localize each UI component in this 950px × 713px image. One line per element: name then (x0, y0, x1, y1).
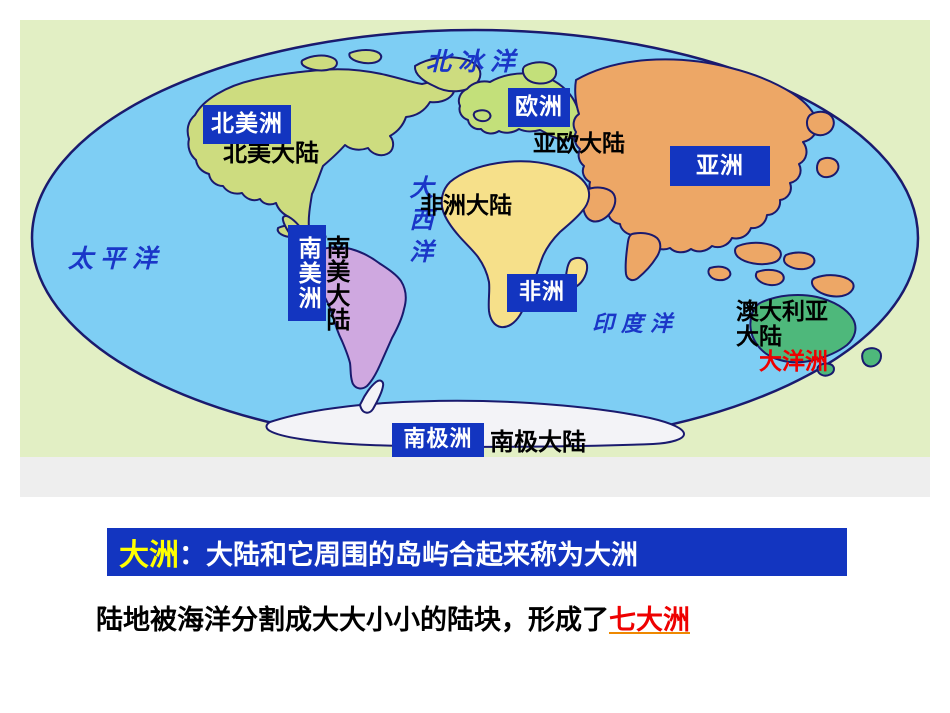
africa-mass-label: 非洲大陆 (420, 194, 512, 219)
oceania-label: 大洋洲 (759, 350, 828, 375)
kamchatka-landmass (807, 112, 834, 135)
continent-tag-africa[interactable]: 非洲 (507, 274, 577, 312)
new-zealand-landmass (862, 348, 881, 366)
caption-line2-prefix: 陆地被海洋分割成大大小小的陆块，形成了 (96, 598, 609, 637)
indian-ocean-label: 印度洋 (592, 306, 679, 338)
antarctica-mass-label: 南极大陆 (490, 429, 586, 455)
japan-isles (817, 158, 838, 177)
australia-mass-label-line1: 澳大利亚 (736, 300, 828, 325)
caption-headline-bar: 大洲 ：大陆和它周围的岛屿合起来称为大洲 (107, 528, 847, 576)
caption-keyword: 大洲 (119, 530, 179, 574)
world-map-panel: 北冰洋 太平洋 大西洋 印度洋 北美大陆 亚欧大陆 非洲大陆 南美大陆 澳大利亚… (20, 20, 930, 457)
continent-tag-south-america[interactable]: 南美洲 (288, 225, 326, 321)
australia-mass-label-line2: 大陆 (736, 325, 782, 350)
caption-line2-highlight: 七大洲 (609, 598, 690, 637)
british-isles-landmass (474, 110, 491, 121)
continent-tag-europe[interactable]: 欧洲 (508, 88, 570, 127)
south-america-mass-label: 南美大陆 (323, 235, 349, 380)
se-asia-isle-4 (708, 267, 730, 281)
continent-tag-north-america[interactable]: 北美洲 (203, 105, 291, 144)
scandinavia-landmass (523, 62, 556, 83)
arctic-ocean-label: 北冰洋 (426, 42, 522, 78)
map-bottom-strip (20, 457, 930, 497)
continent-tag-antarctica[interactable]: 南极洲 (392, 423, 484, 457)
pacific-ocean-label: 太平洋 (68, 239, 164, 275)
arctic-isles-mid (349, 50, 381, 63)
caption-headline-text: ：大陆和它周围的岛屿合起来称为大洲 (179, 533, 638, 572)
eurasia-mass-label: 亚欧大陆 (533, 132, 625, 157)
arctic-isles-west (302, 56, 337, 71)
continent-tag-asia[interactable]: 亚洲 (670, 146, 770, 186)
slide-root: 北冰洋 太平洋 大西洋 印度洋 北美大陆 亚欧大陆 非洲大陆 南美大陆 澳大利亚… (0, 0, 950, 713)
se-asia-isle-2 (784, 253, 814, 270)
caption-second-line: 陆地被海洋分割成大大小小的陆块，形成了 七大洲 (96, 596, 886, 638)
